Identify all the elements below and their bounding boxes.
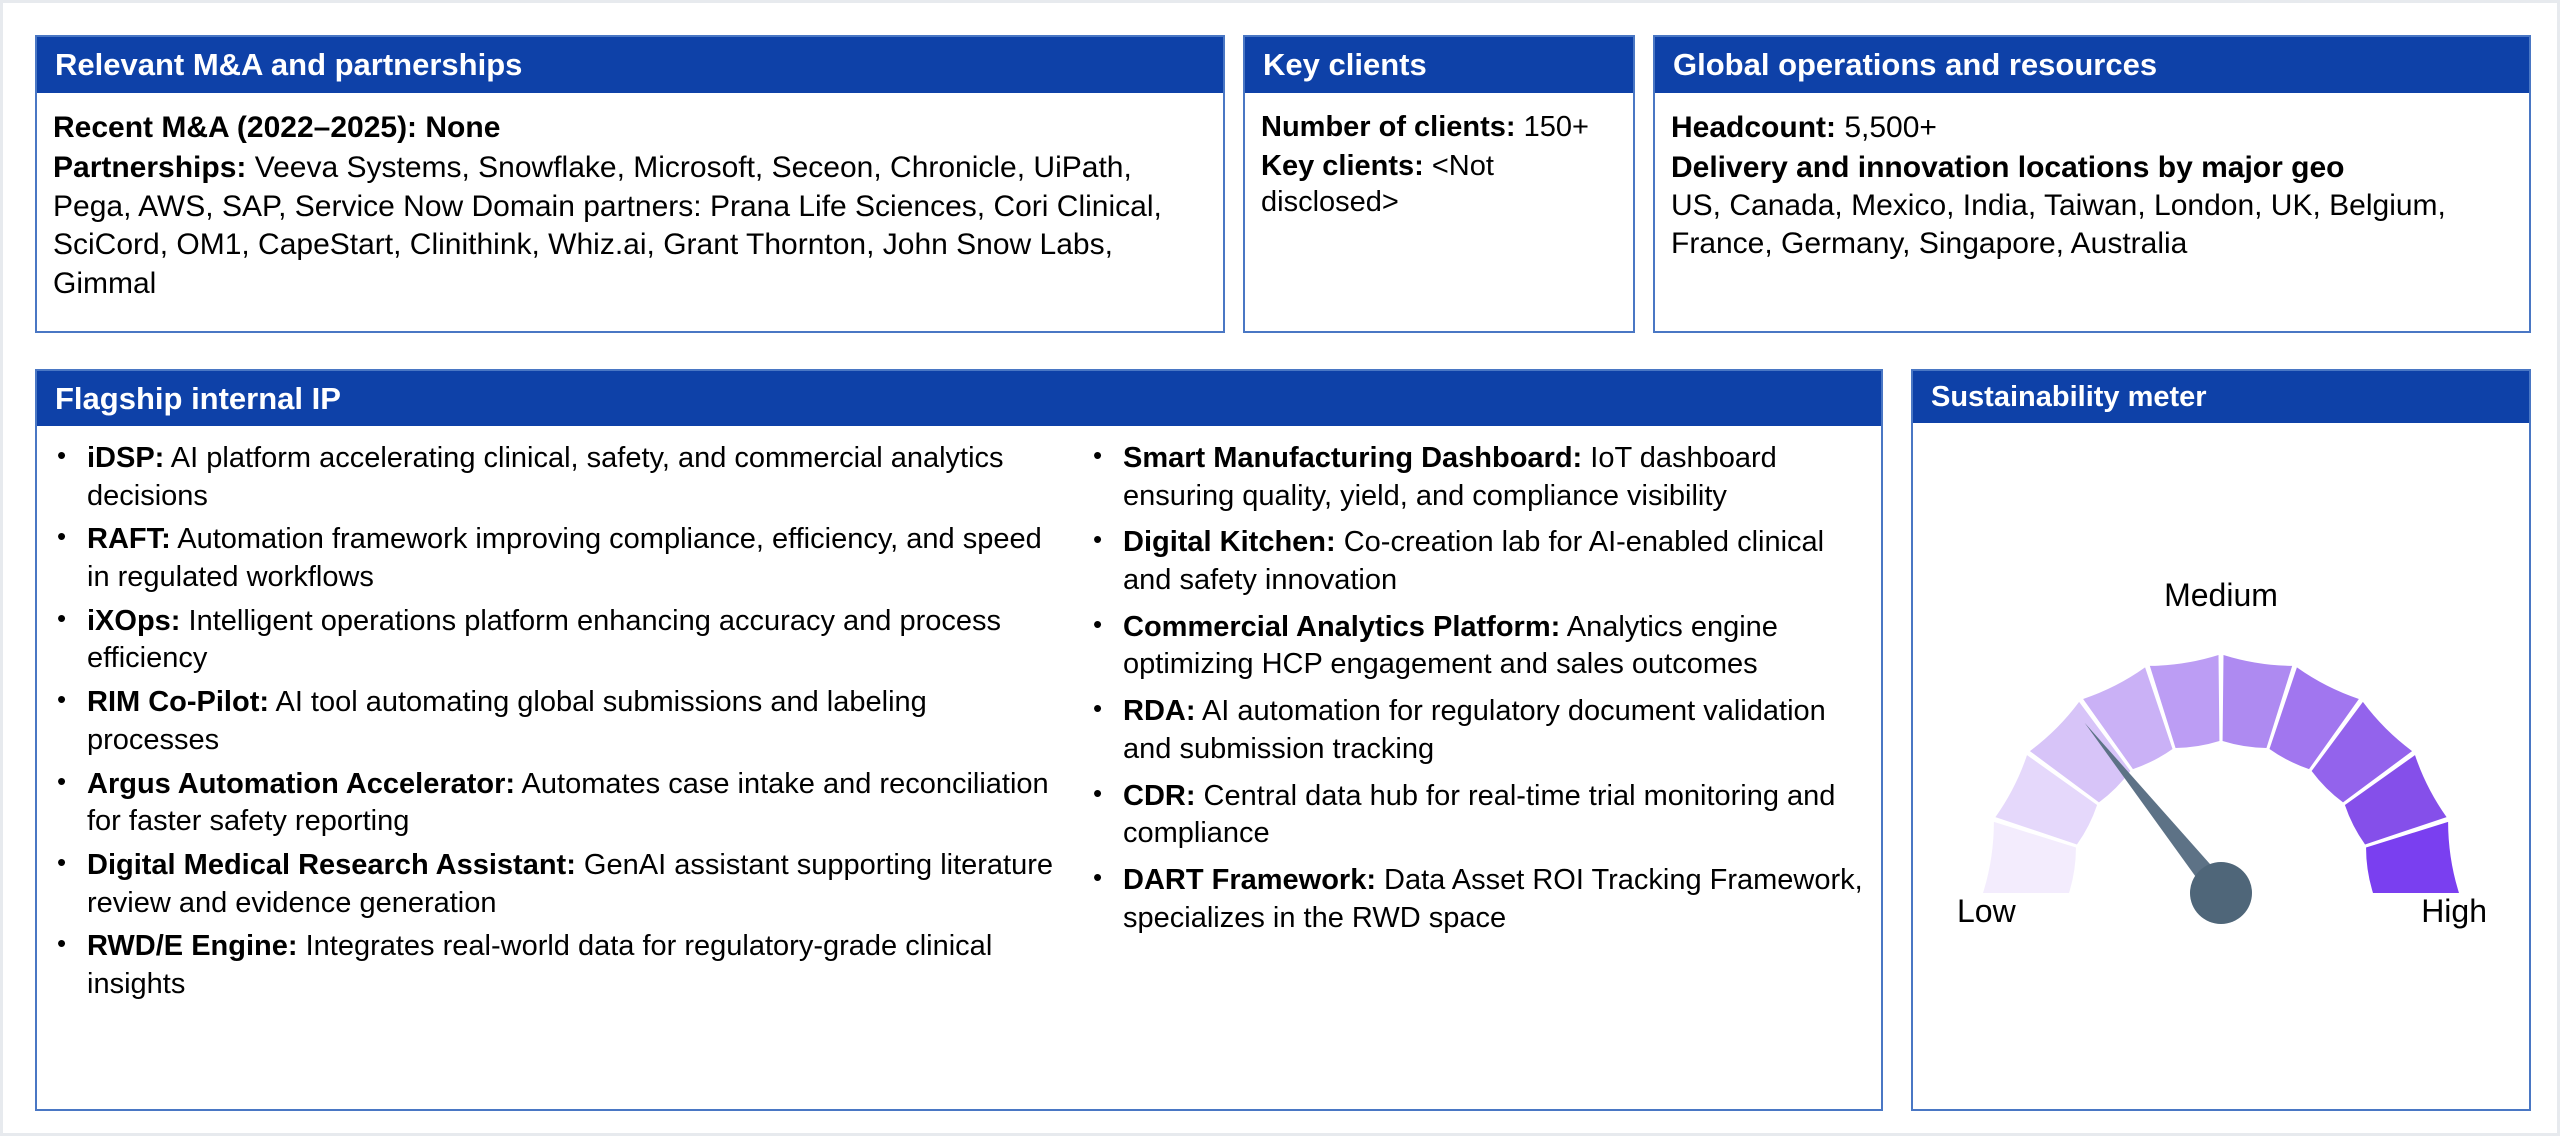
locations-value: US, Canada, Mexico, India, Taiwan, Londo… (1671, 189, 2446, 260)
ip-bullet-left-4: Argus Automation Accelerator: Automates … (51, 766, 1061, 841)
panel-header-relevant-ma: Relevant M&A and partnerships (37, 37, 1223, 93)
panel-global-operations-and-resources: Global operations and resources Headcoun… (1653, 35, 2531, 333)
ip-bullet-name: RIM Co-Pilot: (87, 686, 269, 718)
flagship-ip-left-column: iDSP: AI platform accelerating clinical,… (51, 440, 1061, 1099)
locations-value-line: US, Canada, Mexico, India, Taiwan, Londo… (1671, 187, 2513, 263)
ip-bullet-right-1: Digital Kitchen: Co-creation lab for AI-… (1087, 524, 1867, 599)
ip-bullet-name: RAFT: (87, 523, 171, 555)
panel-key-clients: Key clients Number of clients: 150+ Key … (1243, 35, 1635, 333)
panel-title-key-clients: Key clients (1263, 47, 1427, 83)
ip-bullet-name: iDSP: (87, 442, 164, 474)
ip-bullet-desc: AI automation for regulatory document va… (1123, 695, 1826, 765)
ip-bullet-desc: AI platform accelerating clinical, safet… (87, 442, 1004, 512)
ip-bullet-desc: Intelligent operations platform enhancin… (87, 605, 1001, 675)
ip-bullet-name: DART Framework: (1123, 864, 1376, 896)
panel-relevant-ma-and-partnerships: Relevant M&A and partnerships Recent M&A… (35, 35, 1225, 333)
ip-bullet-right-3: RDA: AI automation for regulatory docume… (1087, 693, 1867, 768)
panel-body-relevant-ma: Recent M&A (2022–2025): None Partnership… (37, 93, 1223, 331)
panel-header-flagship-ip: Flagship internal IP (37, 371, 1881, 426)
panel-title-relevant-ma: Relevant M&A and partnerships (55, 47, 522, 83)
ip-bullet-name: CDR: (1123, 780, 1196, 812)
ip-bullet-left-5: Digital Medical Research Assistant: GenA… (51, 847, 1061, 922)
panel-title-sustainability: Sustainability meter (1931, 381, 2207, 414)
ip-bullet-name: RWD/E Engine: (87, 930, 298, 962)
ip-bullet-desc: Automation framework improving complianc… (87, 523, 1042, 593)
ip-bullet-left-1: RAFT: Automation framework improving com… (51, 521, 1061, 596)
panel-body-key-clients: Number of clients: 150+ Key clients: <No… (1245, 93, 1633, 331)
headcount-line: Headcount: 5,500+ (1671, 109, 2513, 147)
recent-ma-value: None (425, 111, 500, 144)
number-of-clients-value: 150+ (1524, 111, 1589, 143)
slide-canvas: Relevant M&A and partnerships Recent M&A… (0, 0, 2560, 1136)
ip-bullet-name: Commercial Analytics Platform: (1123, 611, 1560, 643)
panel-header-sustainability: Sustainability meter (1913, 371, 2529, 423)
panel-title-flagship-ip: Flagship internal IP (55, 381, 341, 417)
headcount-label: Headcount: (1671, 111, 1836, 144)
ip-bullet-right-5: DART Framework: Data Asset ROI Tracking … (1087, 862, 1867, 937)
headcount-value: 5,500+ (1844, 111, 1937, 144)
locations-label: Delivery and innovation locations by maj… (1671, 151, 2344, 184)
gauge-hub (2190, 862, 2252, 924)
ip-bullet-name: Digital Medical Research Assistant: (87, 849, 576, 881)
recent-ma-line: Recent M&A (2022–2025): None (53, 109, 1207, 147)
panel-body-sustainability: Medium Low High (1913, 423, 2529, 1109)
partnerships-line: Partnerships: Veeva Systems, Snowflake, … (53, 149, 1207, 303)
key-clients-line: Key clients: <Not disclosed> (1261, 148, 1617, 221)
panel-title-global-operations: Global operations and resources (1673, 47, 2157, 83)
gauge-label-low: Low (1957, 893, 2016, 930)
panel-sustainability-meter: Sustainability meter Medium Low High (1911, 369, 2531, 1111)
ip-bullet-right-4: CDR: Central data hub for real-time tria… (1087, 778, 1867, 853)
gauge-svg (1941, 563, 2501, 993)
gauge-label-high: High (2421, 893, 2487, 930)
key-clients-label: Key clients: (1261, 150, 1424, 182)
ip-bullet-left-0: iDSP: AI platform accelerating clinical,… (51, 440, 1061, 515)
ip-bullet-left-2: iXOps: Intelligent operations platform e… (51, 603, 1061, 678)
panel-header-global-operations: Global operations and resources (1655, 37, 2529, 93)
ip-bullet-desc: Central data hub for real-time trial mon… (1123, 780, 1835, 850)
locations-label-line: Delivery and innovation locations by maj… (1671, 149, 2513, 187)
gauge-label-medium: Medium (2164, 577, 2278, 614)
flagship-ip-right-list: Smart Manufacturing Dashboard: IoT dashb… (1087, 440, 1867, 937)
recent-ma-label: Recent M&A (2022–2025): (53, 111, 417, 144)
ip-bullet-name: iXOps: (87, 605, 180, 637)
flagship-ip-right-column: Smart Manufacturing Dashboard: IoT dashb… (1087, 440, 1867, 1099)
panel-header-key-clients: Key clients (1245, 37, 1633, 93)
flagship-ip-left-list: iDSP: AI platform accelerating clinical,… (51, 440, 1061, 1004)
sustainability-gauge: Medium Low High (1941, 563, 2501, 993)
ip-bullet-right-0: Smart Manufacturing Dashboard: IoT dashb… (1087, 440, 1867, 515)
ip-bullet-name: RDA: (1123, 695, 1196, 727)
ip-bullet-left-6: RWD/E Engine: Integrates real-world data… (51, 928, 1061, 1003)
ip-bullet-left-3: RIM Co-Pilot: AI tool automating global … (51, 684, 1061, 759)
ip-bullet-name: Smart Manufacturing Dashboard: (1123, 442, 1582, 474)
partnerships-label: Partnerships: (53, 151, 246, 184)
number-of-clients-label: Number of clients: (1261, 111, 1516, 143)
ip-bullet-right-2: Commercial Analytics Platform: Analytics… (1087, 609, 1867, 684)
number-of-clients-line: Number of clients: 150+ (1261, 109, 1617, 146)
ip-bullet-name: Argus Automation Accelerator: (87, 768, 515, 800)
panel-body-global-operations: Headcount: 5,500+ Delivery and innovatio… (1655, 93, 2529, 331)
panel-flagship-internal-ip: Flagship internal IP iDSP: AI platform a… (35, 369, 1883, 1111)
ip-bullet-name: Digital Kitchen: (1123, 526, 1336, 558)
panel-body-flagship-ip: iDSP: AI platform accelerating clinical,… (37, 426, 1881, 1109)
